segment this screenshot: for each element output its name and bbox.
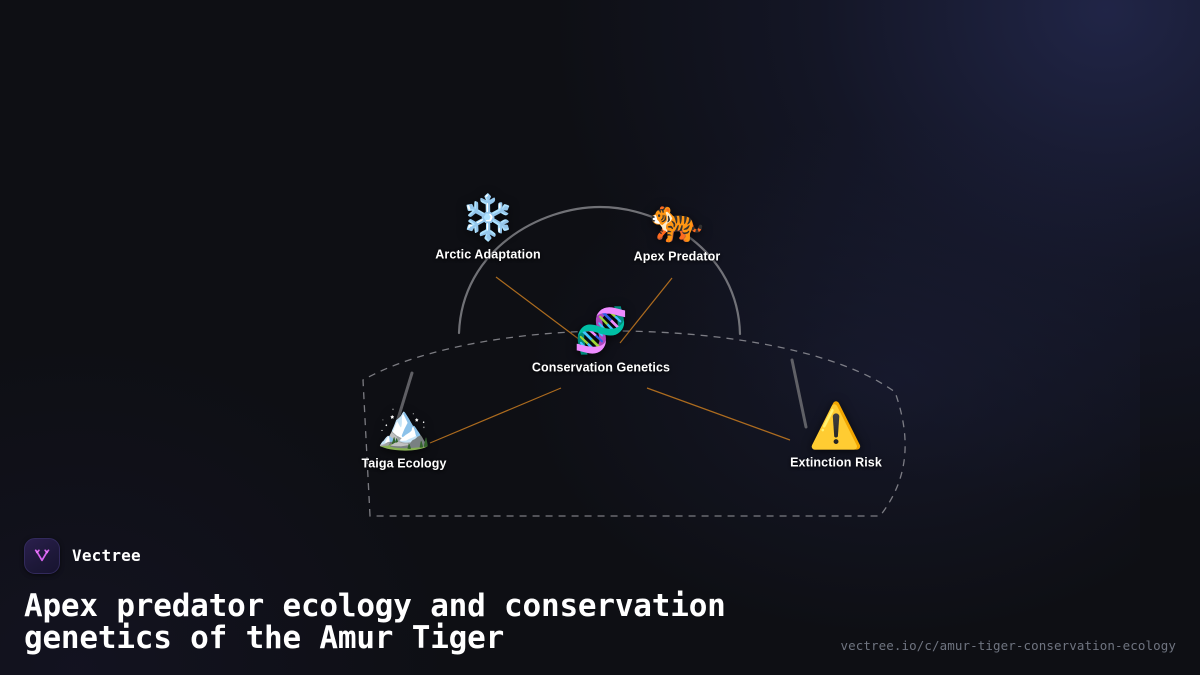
graph-node-conservation-genetics[interactable]: 🧬 Conservation Genetics: [511, 310, 691, 375]
graph-node-label: Conservation Genetics: [511, 361, 691, 375]
graph-node-label: Extinction Risk: [746, 456, 926, 470]
graph-node-apex-predator[interactable]: 🐅 Apex Predator: [587, 199, 767, 264]
share-card: ❄️ Arctic Adaptation 🐅 Apex Predator 🧬 C…: [0, 0, 1200, 675]
vectree-v-logo-icon: [24, 538, 60, 574]
dna-icon: 🧬: [511, 310, 691, 354]
graph-node-label: Arctic Adaptation: [398, 248, 578, 262]
graph-node-taiga-ecology[interactable]: 🏔️ Taiga Ecology: [314, 406, 494, 471]
brand-row: Vectree: [24, 538, 1176, 574]
graph-node-label: Taiga Ecology: [314, 457, 494, 471]
page-title: Apex predator ecology and conservation g…: [24, 590, 764, 655]
card-footer: Vectree Apex predator ecology and conser…: [0, 538, 1200, 675]
card-url: vectree.io/c/amur-tiger-conservation-eco…: [840, 638, 1176, 653]
graph-node-arctic-adaptation[interactable]: ❄️ Arctic Adaptation: [398, 197, 578, 262]
brand-name: Vectree: [72, 546, 141, 565]
graph-node-label: Apex Predator: [587, 250, 767, 264]
graph-node-extinction-risk[interactable]: ⚠️ Extinction Risk: [746, 405, 926, 470]
snowflake-icon: ❄️: [398, 197, 578, 241]
snow-mountain-icon: 🏔️: [314, 406, 494, 450]
warning-triangle-icon: ⚠️: [746, 405, 926, 449]
tiger-icon: 🐅: [587, 199, 767, 243]
